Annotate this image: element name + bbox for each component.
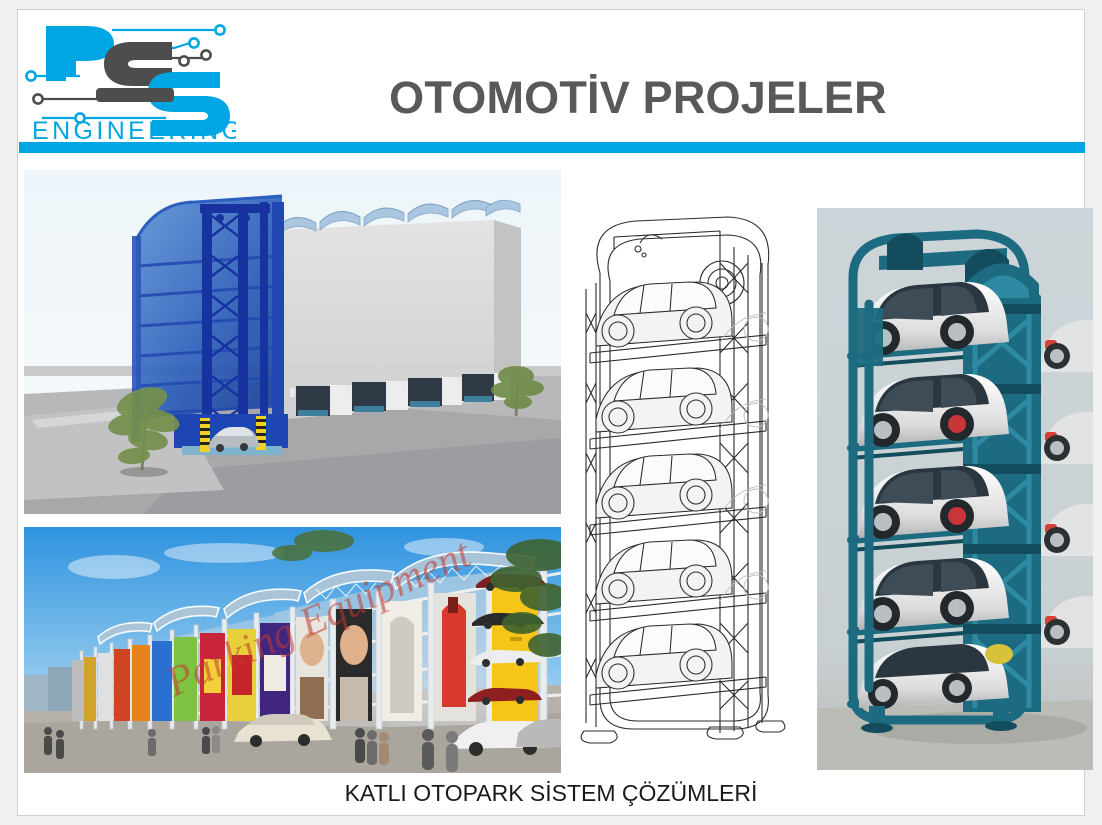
rotary-parking-carousel-art (817, 208, 1093, 770)
rotary-parking-technical-drawing-art (570, 203, 795, 758)
billboard-parking-street-art: Parking Equipment (24, 527, 561, 773)
image-billboard-parking-street[interactable]: Parking Equipment (24, 527, 561, 773)
tower-parking-building-art (24, 170, 561, 514)
slide-header: ENGINEERING OTOMOTİV PROJELER (18, 10, 1084, 142)
page-title: OTOMOTİV PROJELER (328, 72, 948, 124)
image-rotary-parking-carousel[interactable] (817, 208, 1093, 770)
image-tower-parking-building[interactable] (24, 170, 561, 514)
company-logo[interactable]: ENGINEERING (24, 14, 236, 142)
logo-subtitle: ENGINEERING (32, 117, 236, 142)
image-rotary-parking-drawing[interactable] (570, 203, 795, 758)
slide-caption: KATLI OTOPARK SİSTEM ÇÖZÜMLERİ (18, 780, 1084, 807)
header-accent-bar (19, 142, 1085, 153)
slide-page: ENGINEERING OTOMOTİV PROJELER (17, 9, 1085, 816)
slide-canvas: ENGINEERING OTOMOTİV PROJELER (0, 0, 1102, 825)
image-gallery: Parking Equipment (18, 153, 1084, 773)
circuit-trace-logo-icon: ENGINEERING (24, 14, 236, 142)
